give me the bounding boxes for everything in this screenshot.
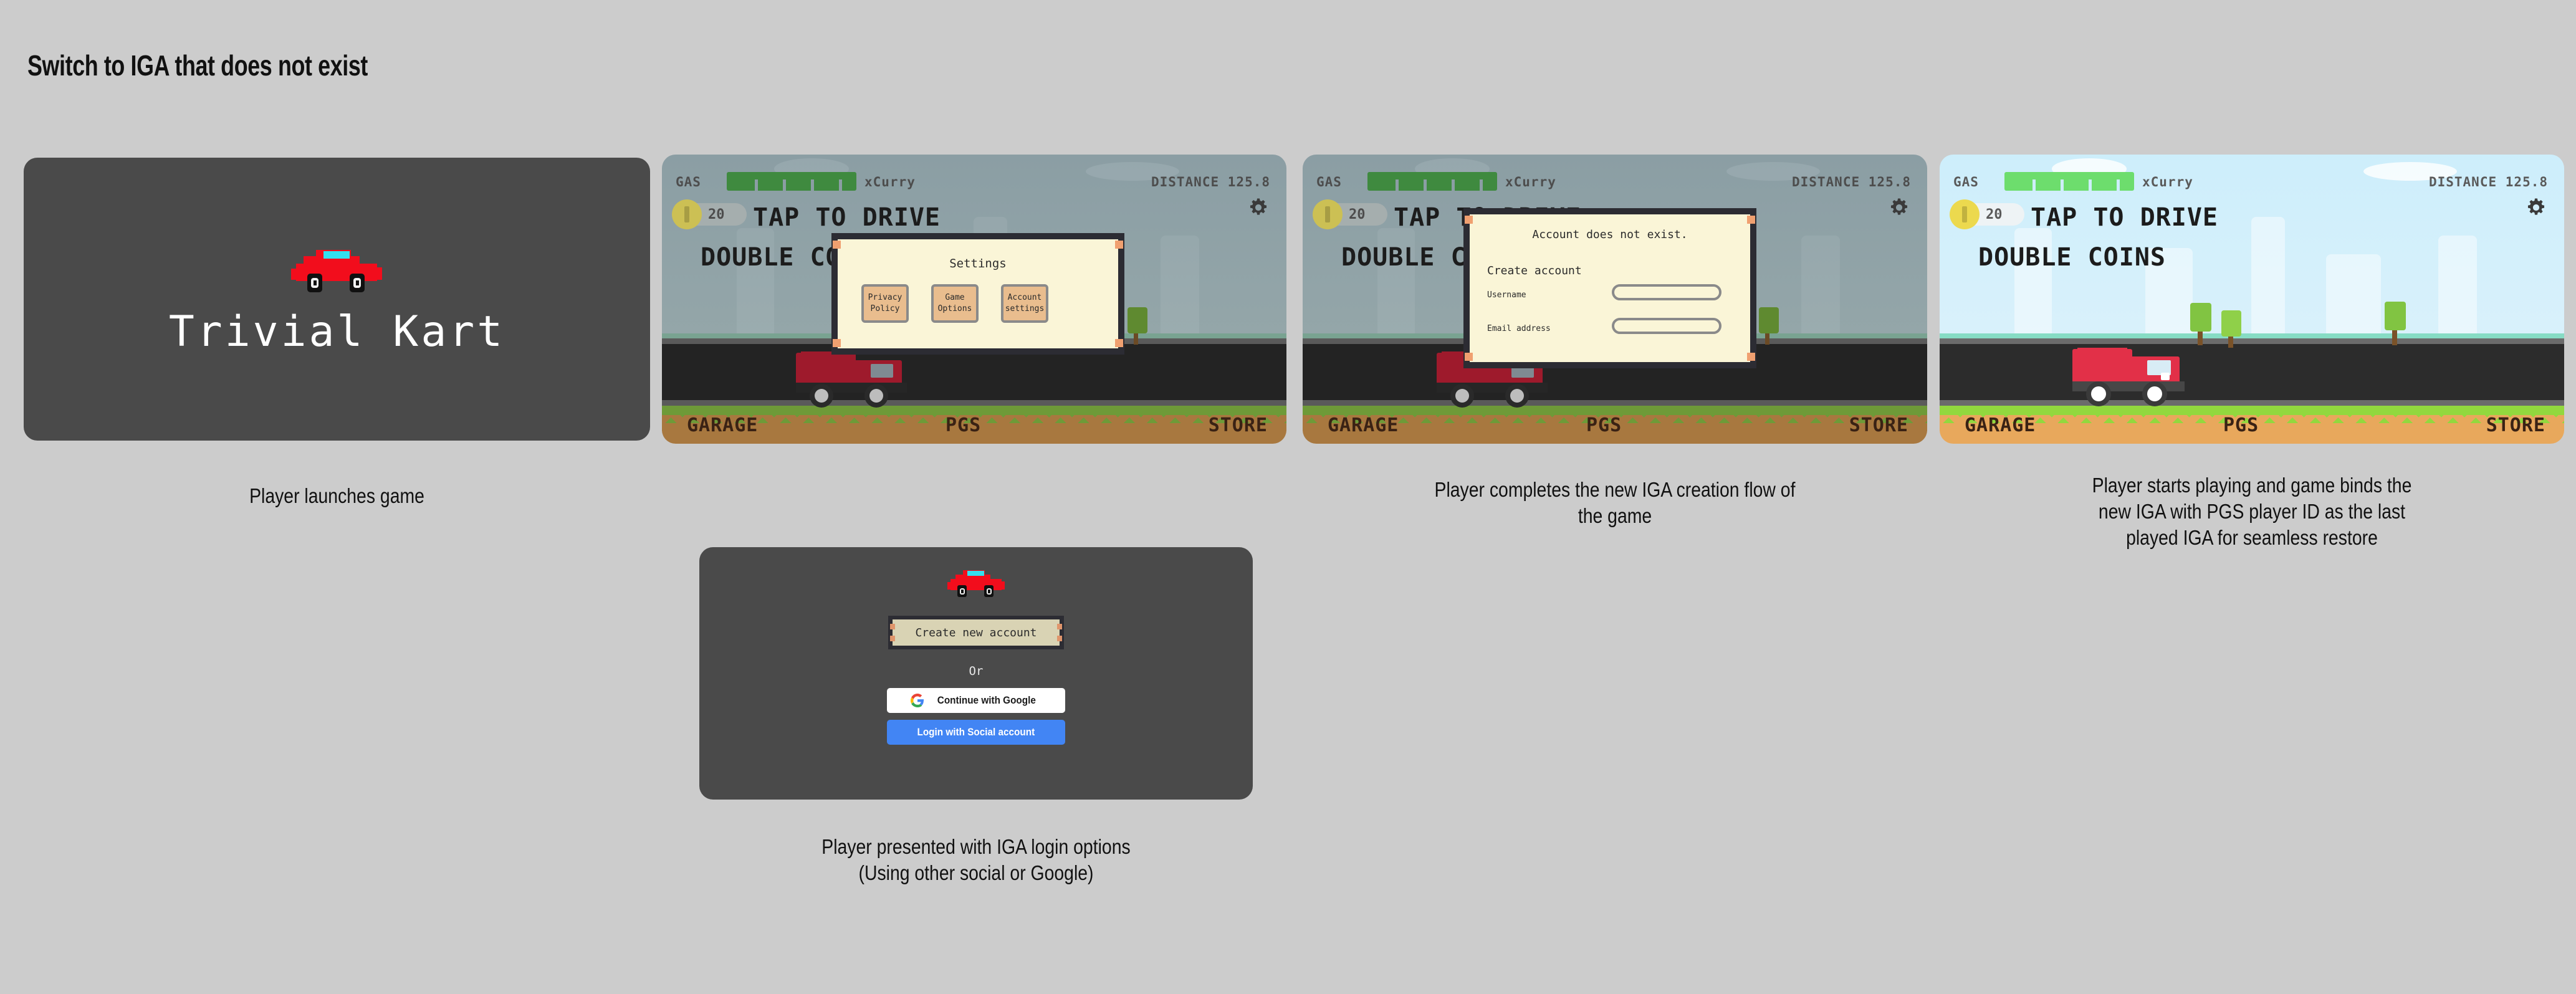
corner-accent bbox=[833, 241, 841, 249]
pixel-car-icon bbox=[945, 566, 1007, 598]
distance-label: DISTANCE bbox=[1792, 174, 1860, 189]
pixel-car-icon bbox=[287, 242, 387, 294]
corner-accent bbox=[1115, 241, 1123, 249]
email-label: Email address bbox=[1487, 324, 1551, 333]
nav-pgs[interactable]: PGS bbox=[946, 414, 981, 436]
nav-store[interactable]: STORE bbox=[1849, 414, 1908, 436]
tree bbox=[1126, 307, 1151, 345]
building bbox=[2326, 254, 2381, 338]
gear-icon[interactable] bbox=[1889, 197, 1910, 218]
tree bbox=[2383, 302, 2411, 345]
gas-bar bbox=[1367, 172, 1497, 191]
horizon bbox=[1940, 333, 2564, 338]
coin-icon bbox=[1313, 199, 1343, 229]
corner-accent bbox=[833, 339, 841, 347]
create-account-dialog: Account does not exist. Create account U… bbox=[1463, 208, 1756, 368]
caption-login: Player presented with IGA login options … bbox=[738, 834, 1214, 886]
gas-label: GAS bbox=[676, 174, 701, 189]
coin-count: 20 bbox=[1986, 207, 2003, 222]
nav-garage[interactable]: GARAGE bbox=[1965, 414, 2036, 436]
nav-store[interactable]: STORE bbox=[1209, 414, 1268, 436]
road bbox=[1940, 344, 2564, 400]
coin-count: 20 bbox=[1349, 207, 1366, 222]
dialog-title: Account does not exist. bbox=[1463, 228, 1756, 241]
gear-icon[interactable] bbox=[1248, 197, 1269, 218]
google-button-label: Continue with Google bbox=[937, 694, 1036, 707]
distance-label: DISTANCE bbox=[1151, 174, 1219, 189]
splash-content: Trivial Kart bbox=[24, 158, 650, 441]
create-new-account-button[interactable]: Create new account bbox=[888, 616, 1064, 649]
coin-count: 20 bbox=[708, 207, 725, 222]
panel-splash: Trivial Kart bbox=[24, 158, 650, 441]
building bbox=[2438, 236, 2477, 338]
nav-garage[interactable]: GARAGE bbox=[687, 414, 758, 436]
distance-value: 125.8 bbox=[2506, 174, 2548, 189]
settings-dialog: Settings Privacy Policy Game Options Acc… bbox=[831, 233, 1124, 355]
game-scene: GAS xCurry DISTANCE 125.8 20 TAP TO DRIV… bbox=[662, 155, 1286, 444]
gas-bar bbox=[727, 172, 856, 191]
distance-value: 125.8 bbox=[1228, 174, 1270, 189]
slide-canvas: Switch to IGA that does not exist Trivia… bbox=[0, 0, 2576, 994]
gas-bar bbox=[2004, 172, 2134, 191]
game-title: Trivial Kart bbox=[169, 307, 505, 356]
coin-icon bbox=[672, 199, 702, 229]
corner-accent bbox=[1057, 636, 1062, 641]
corner-accent bbox=[1747, 216, 1755, 224]
drive-message-line1: TAP TO DRIVE bbox=[753, 203, 941, 232]
caption-splash: Player launches game bbox=[67, 483, 606, 509]
distance-readout: DISTANCE 125.8 bbox=[1151, 174, 1270, 189]
gear-icon[interactable] bbox=[2526, 197, 2547, 218]
panel-settings: GAS xCurry DISTANCE 125.8 20 TAP TO DRIV… bbox=[662, 155, 1286, 444]
kerb bbox=[1940, 400, 2564, 406]
distance-readout: DISTANCE 125.8 bbox=[2429, 174, 2548, 189]
truck bbox=[2072, 348, 2206, 401]
tree bbox=[2189, 303, 2216, 345]
corner-accent bbox=[890, 636, 895, 641]
dialog-title: Settings bbox=[831, 257, 1124, 270]
username-label: Username bbox=[1487, 290, 1526, 300]
panel-login: Create new account Or Continue with Goog… bbox=[699, 547, 1253, 800]
privacy-policy-button[interactable]: Privacy Policy bbox=[861, 284, 909, 323]
distance-label: DISTANCE bbox=[2429, 174, 2497, 189]
game-scene: GAS xCurry DISTANCE 125.8 20 TAP TO DRIV… bbox=[1303, 155, 1927, 444]
create-new-account-label: Create new account bbox=[893, 619, 1060, 646]
corner-accent bbox=[890, 624, 895, 629]
drive-message-line1: TAP TO DRIVE bbox=[2031, 203, 2218, 232]
caption-create-account: Player completes the new IGA creation fl… bbox=[1346, 477, 1884, 529]
kerb bbox=[1940, 338, 2564, 344]
nav-pgs[interactable]: PGS bbox=[2223, 414, 2259, 436]
username-input[interactable] bbox=[1612, 284, 1721, 300]
nav-garage[interactable]: GARAGE bbox=[1328, 414, 1399, 436]
caption-playing: Player starts playing and game binds the… bbox=[1983, 472, 2521, 552]
account-settings-button[interactable]: Account settings bbox=[1001, 284, 1048, 323]
distance-readout: DISTANCE 125.8 bbox=[1792, 174, 1911, 189]
login-with-social-button[interactable]: Login with Social account bbox=[887, 720, 1065, 745]
nav-pgs[interactable]: PGS bbox=[1586, 414, 1622, 436]
player-name: xCurry bbox=[1505, 174, 1556, 189]
corner-accent bbox=[1465, 353, 1473, 361]
kerb bbox=[1303, 400, 1927, 406]
building bbox=[1801, 236, 1840, 338]
or-separator-label: Or bbox=[699, 664, 1253, 678]
drive-message-line2: DOUBLE COINS bbox=[1978, 243, 2166, 272]
game-scene: GAS xCurry DISTANCE 125.8 20 TAP TO DRIV… bbox=[1940, 155, 2564, 444]
building bbox=[1161, 236, 1199, 338]
email-input[interactable] bbox=[1612, 318, 1721, 334]
gas-label: GAS bbox=[1316, 174, 1342, 189]
continue-with-google-button[interactable]: Continue with Google bbox=[887, 688, 1065, 713]
tree bbox=[2220, 310, 2246, 348]
panel-playing: GAS xCurry DISTANCE 125.8 20 TAP TO DRIV… bbox=[1940, 155, 2564, 444]
corner-accent bbox=[1115, 339, 1123, 347]
building bbox=[2251, 217, 2285, 338]
corner-accent bbox=[1747, 353, 1755, 361]
truck bbox=[796, 351, 930, 401]
page-title: Switch to IGA that does not exist bbox=[27, 49, 368, 82]
coin-icon bbox=[1950, 199, 1980, 229]
corner-accent bbox=[1057, 624, 1062, 629]
player-name: xCurry bbox=[2142, 174, 2193, 189]
gas-label: GAS bbox=[1953, 174, 1979, 189]
google-g-icon bbox=[911, 694, 924, 707]
distance-value: 125.8 bbox=[1869, 174, 1911, 189]
tree bbox=[1758, 307, 1783, 345]
corner-accent bbox=[1465, 216, 1473, 224]
nav-store[interactable]: STORE bbox=[2486, 414, 2545, 436]
kerb bbox=[662, 400, 1286, 406]
game-options-button[interactable]: Game Options bbox=[931, 284, 979, 323]
create-account-heading: Create account bbox=[1487, 264, 1582, 277]
social-button-label: Login with Social account bbox=[917, 726, 1035, 738]
player-name: xCurry bbox=[864, 174, 916, 189]
panel-create-account: GAS xCurry DISTANCE 125.8 20 TAP TO DRIV… bbox=[1303, 155, 1927, 444]
